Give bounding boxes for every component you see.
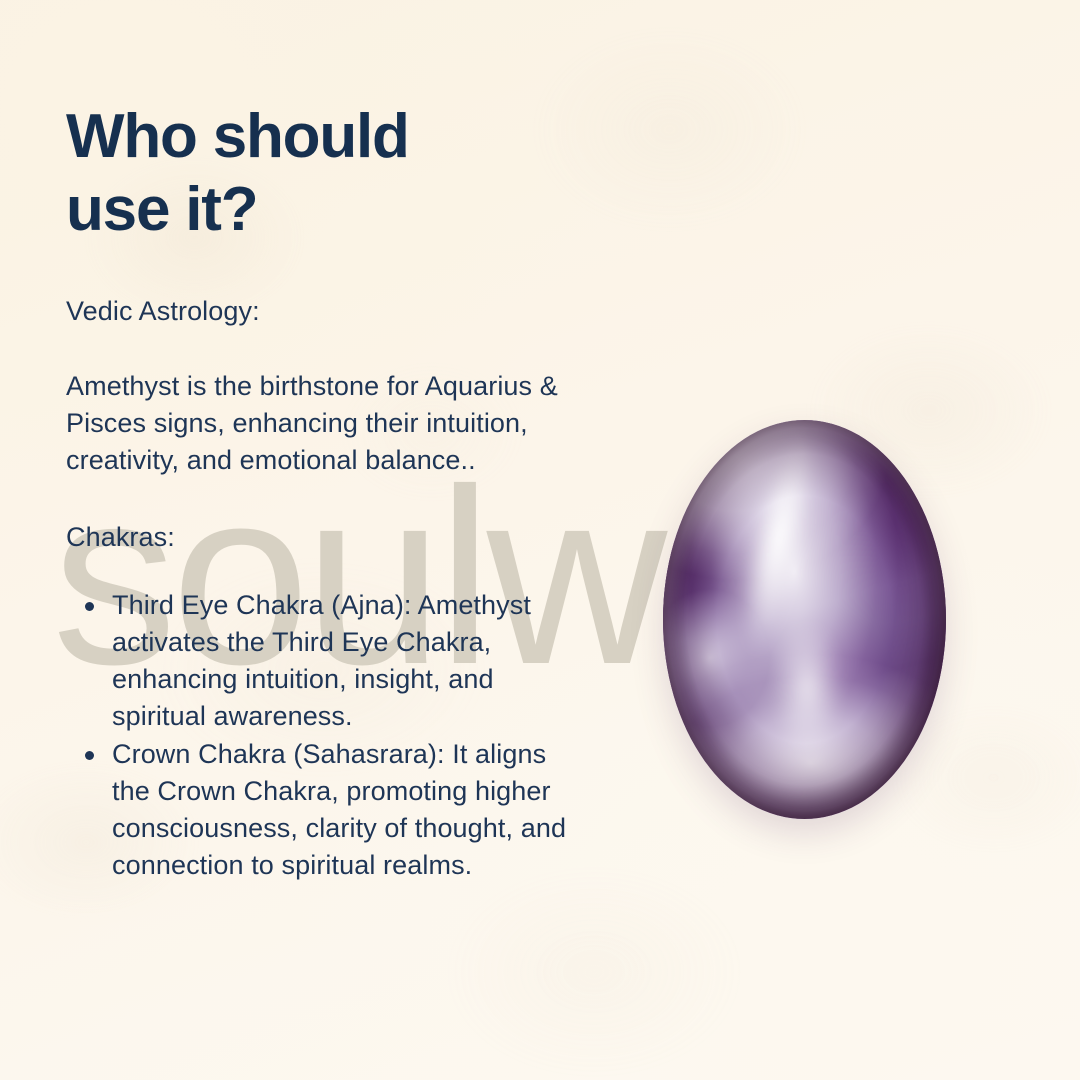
amethyst-stone-body xyxy=(663,420,946,819)
page-title: Who should use it? xyxy=(66,100,576,246)
bullet-dot-icon xyxy=(85,751,94,760)
list-item-text: Third Eye Chakra (Ajna): Amethyst activa… xyxy=(112,590,531,732)
info-card: soulwe Who should use it? V xyxy=(0,0,1080,1080)
vedic-astrology-body: Amethyst is the birthstone for Aquarius … xyxy=(66,368,566,480)
list-item: Third Eye Chakra (Ajna): Amethyst activa… xyxy=(112,587,574,736)
list-item: Crown Chakra (Sahasrara): It aligns the … xyxy=(112,736,574,885)
list-item-text: Crown Chakra (Sahasrara): It aligns the … xyxy=(112,739,566,881)
chakras-bullet-list: Third Eye Chakra (Ajna): Amethyst activa… xyxy=(66,587,576,885)
chakras-label: Chakras: xyxy=(66,519,576,556)
amethyst-stone-image xyxy=(663,420,946,819)
stone-rim-light xyxy=(663,420,946,819)
bullet-dot-icon xyxy=(85,602,94,611)
text-column: Who should use it? Vedic Astrology: Amet… xyxy=(66,100,576,885)
vedic-astrology-label: Vedic Astrology: xyxy=(66,293,576,330)
